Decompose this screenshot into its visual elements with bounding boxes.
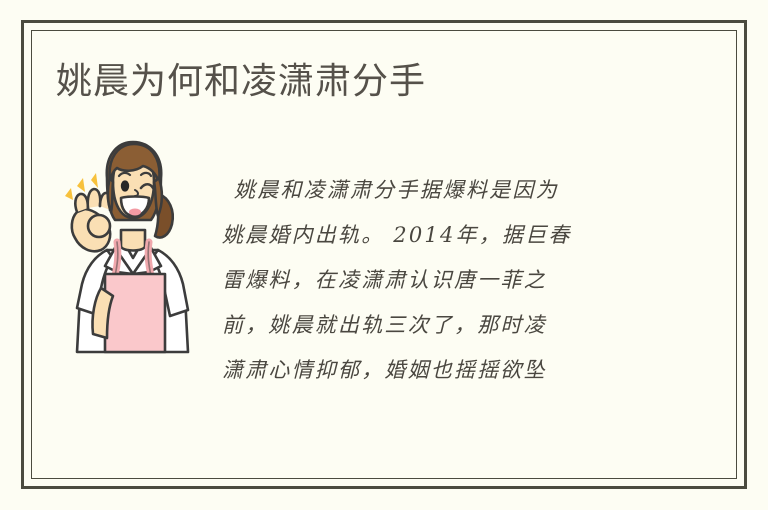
sparkle-icon-3 xyxy=(91,173,98,188)
article-body-line: 雷爆料，在凌潇肃认识唐一菲之 xyxy=(222,258,658,303)
page-title: 姚晨为何和凌潇肃分手 xyxy=(56,60,426,104)
article-body: 姚晨和凌潇肃分手据爆料是因为 姚晨婚内出轨。 2014年，据巨春 雷爆料，在凌潇… xyxy=(222,168,658,393)
sparkle-icon-1 xyxy=(65,188,73,200)
article-body-line: 姚晨婚内出轨。 2014年，据巨春 xyxy=(222,213,658,258)
article-body-line: 前，姚晨就出轨三次了，那时凌 xyxy=(222,303,658,348)
page-root: 姚晨为何和凌潇肃分手 xyxy=(0,0,768,510)
eye-open-left xyxy=(121,180,129,191)
finger-middle xyxy=(88,189,101,208)
article-body-line: 姚晨和凌潇肃分手据爆料是因为 xyxy=(222,168,658,213)
hair-side-left xyxy=(108,178,113,212)
neck xyxy=(121,230,145,251)
illustration-cartoon-woman xyxy=(55,138,210,356)
ok-gesture-circle xyxy=(88,215,110,237)
article-body-line: 潇肃心情抑郁，婚姻也摇摇欲坠 xyxy=(222,348,658,393)
apron-body xyxy=(105,274,165,352)
tongue xyxy=(129,209,141,216)
sparkle-icon-2 xyxy=(77,178,85,192)
